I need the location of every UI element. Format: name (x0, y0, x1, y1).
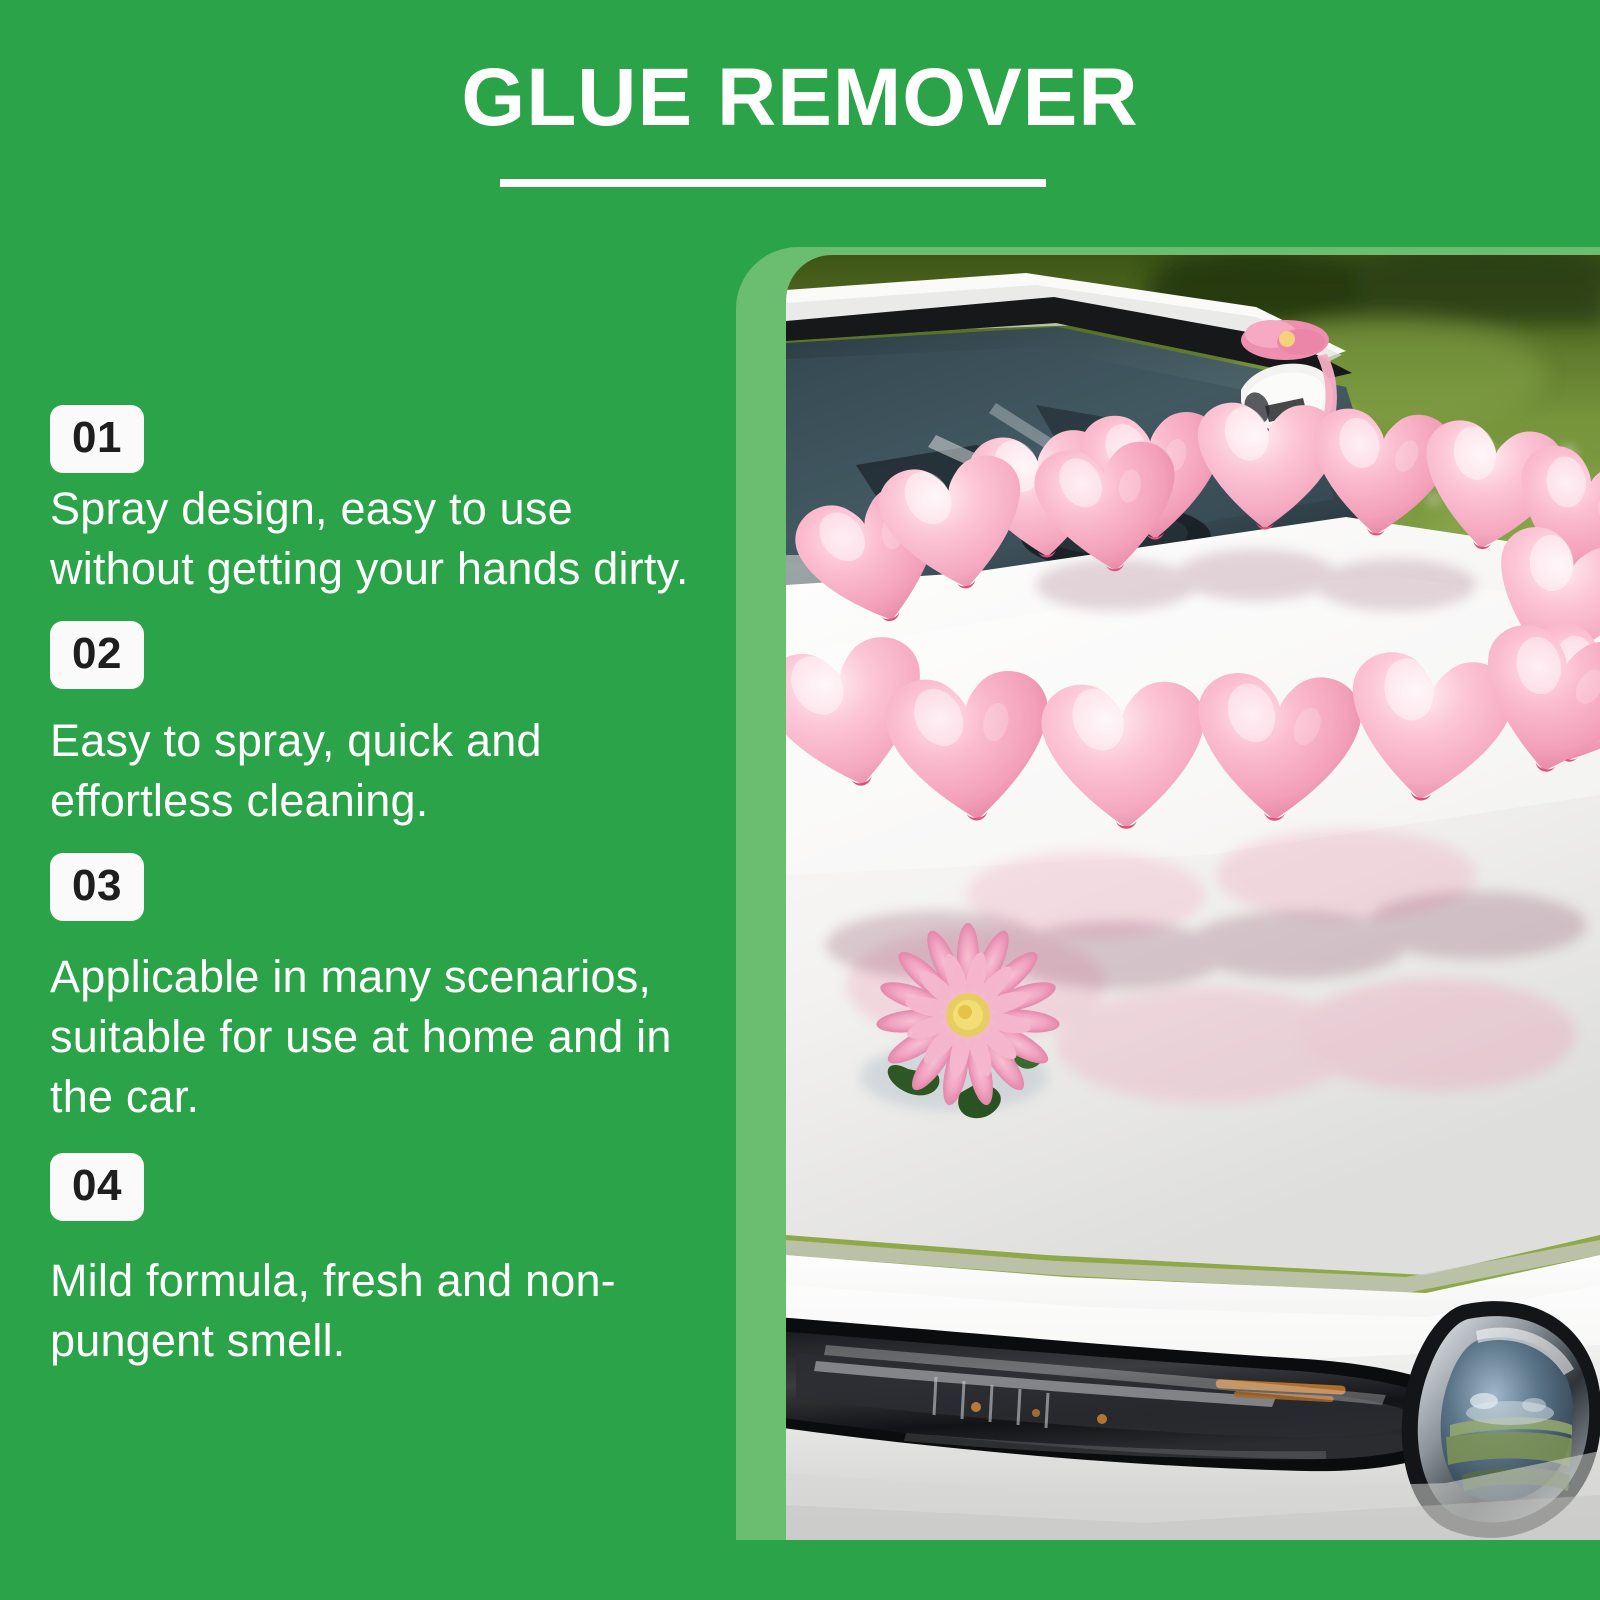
feature-item-01: 01 Spray design, easy to use without get… (50, 405, 710, 599)
feature-list: 01 Spray design, easy to use without get… (50, 405, 710, 1383)
feature-description-04: Mild formula, fresh and non-pungent smel… (50, 1251, 710, 1371)
feature-item-03: 03 Applicable in many scenarios, suitabl… (50, 853, 710, 1127)
title-underline-divider (500, 179, 1046, 187)
product-photo (786, 255, 1600, 1540)
feature-number-badge-01: 01 (50, 405, 144, 473)
feature-number-badge-04: 04 (50, 1153, 144, 1221)
feature-description-03: Applicable in many scenarios, suitable f… (50, 947, 710, 1127)
feature-description-02: Easy to spray, quick and effortless clea… (50, 711, 710, 831)
page-title: GLUE REMOVER (0, 50, 1600, 146)
feature-number-badge-02: 02 (50, 621, 144, 689)
header: GLUE REMOVER (0, 0, 1600, 240)
feature-number-badge-03: 03 (50, 853, 144, 921)
feature-item-04: 04 Mild formula, fresh and non-pungent s… (50, 1153, 710, 1371)
feature-item-02: 02 Easy to spray, quick and effortless c… (50, 621, 710, 831)
feature-description-01: Spray design, easy to use without gettin… (50, 479, 710, 599)
